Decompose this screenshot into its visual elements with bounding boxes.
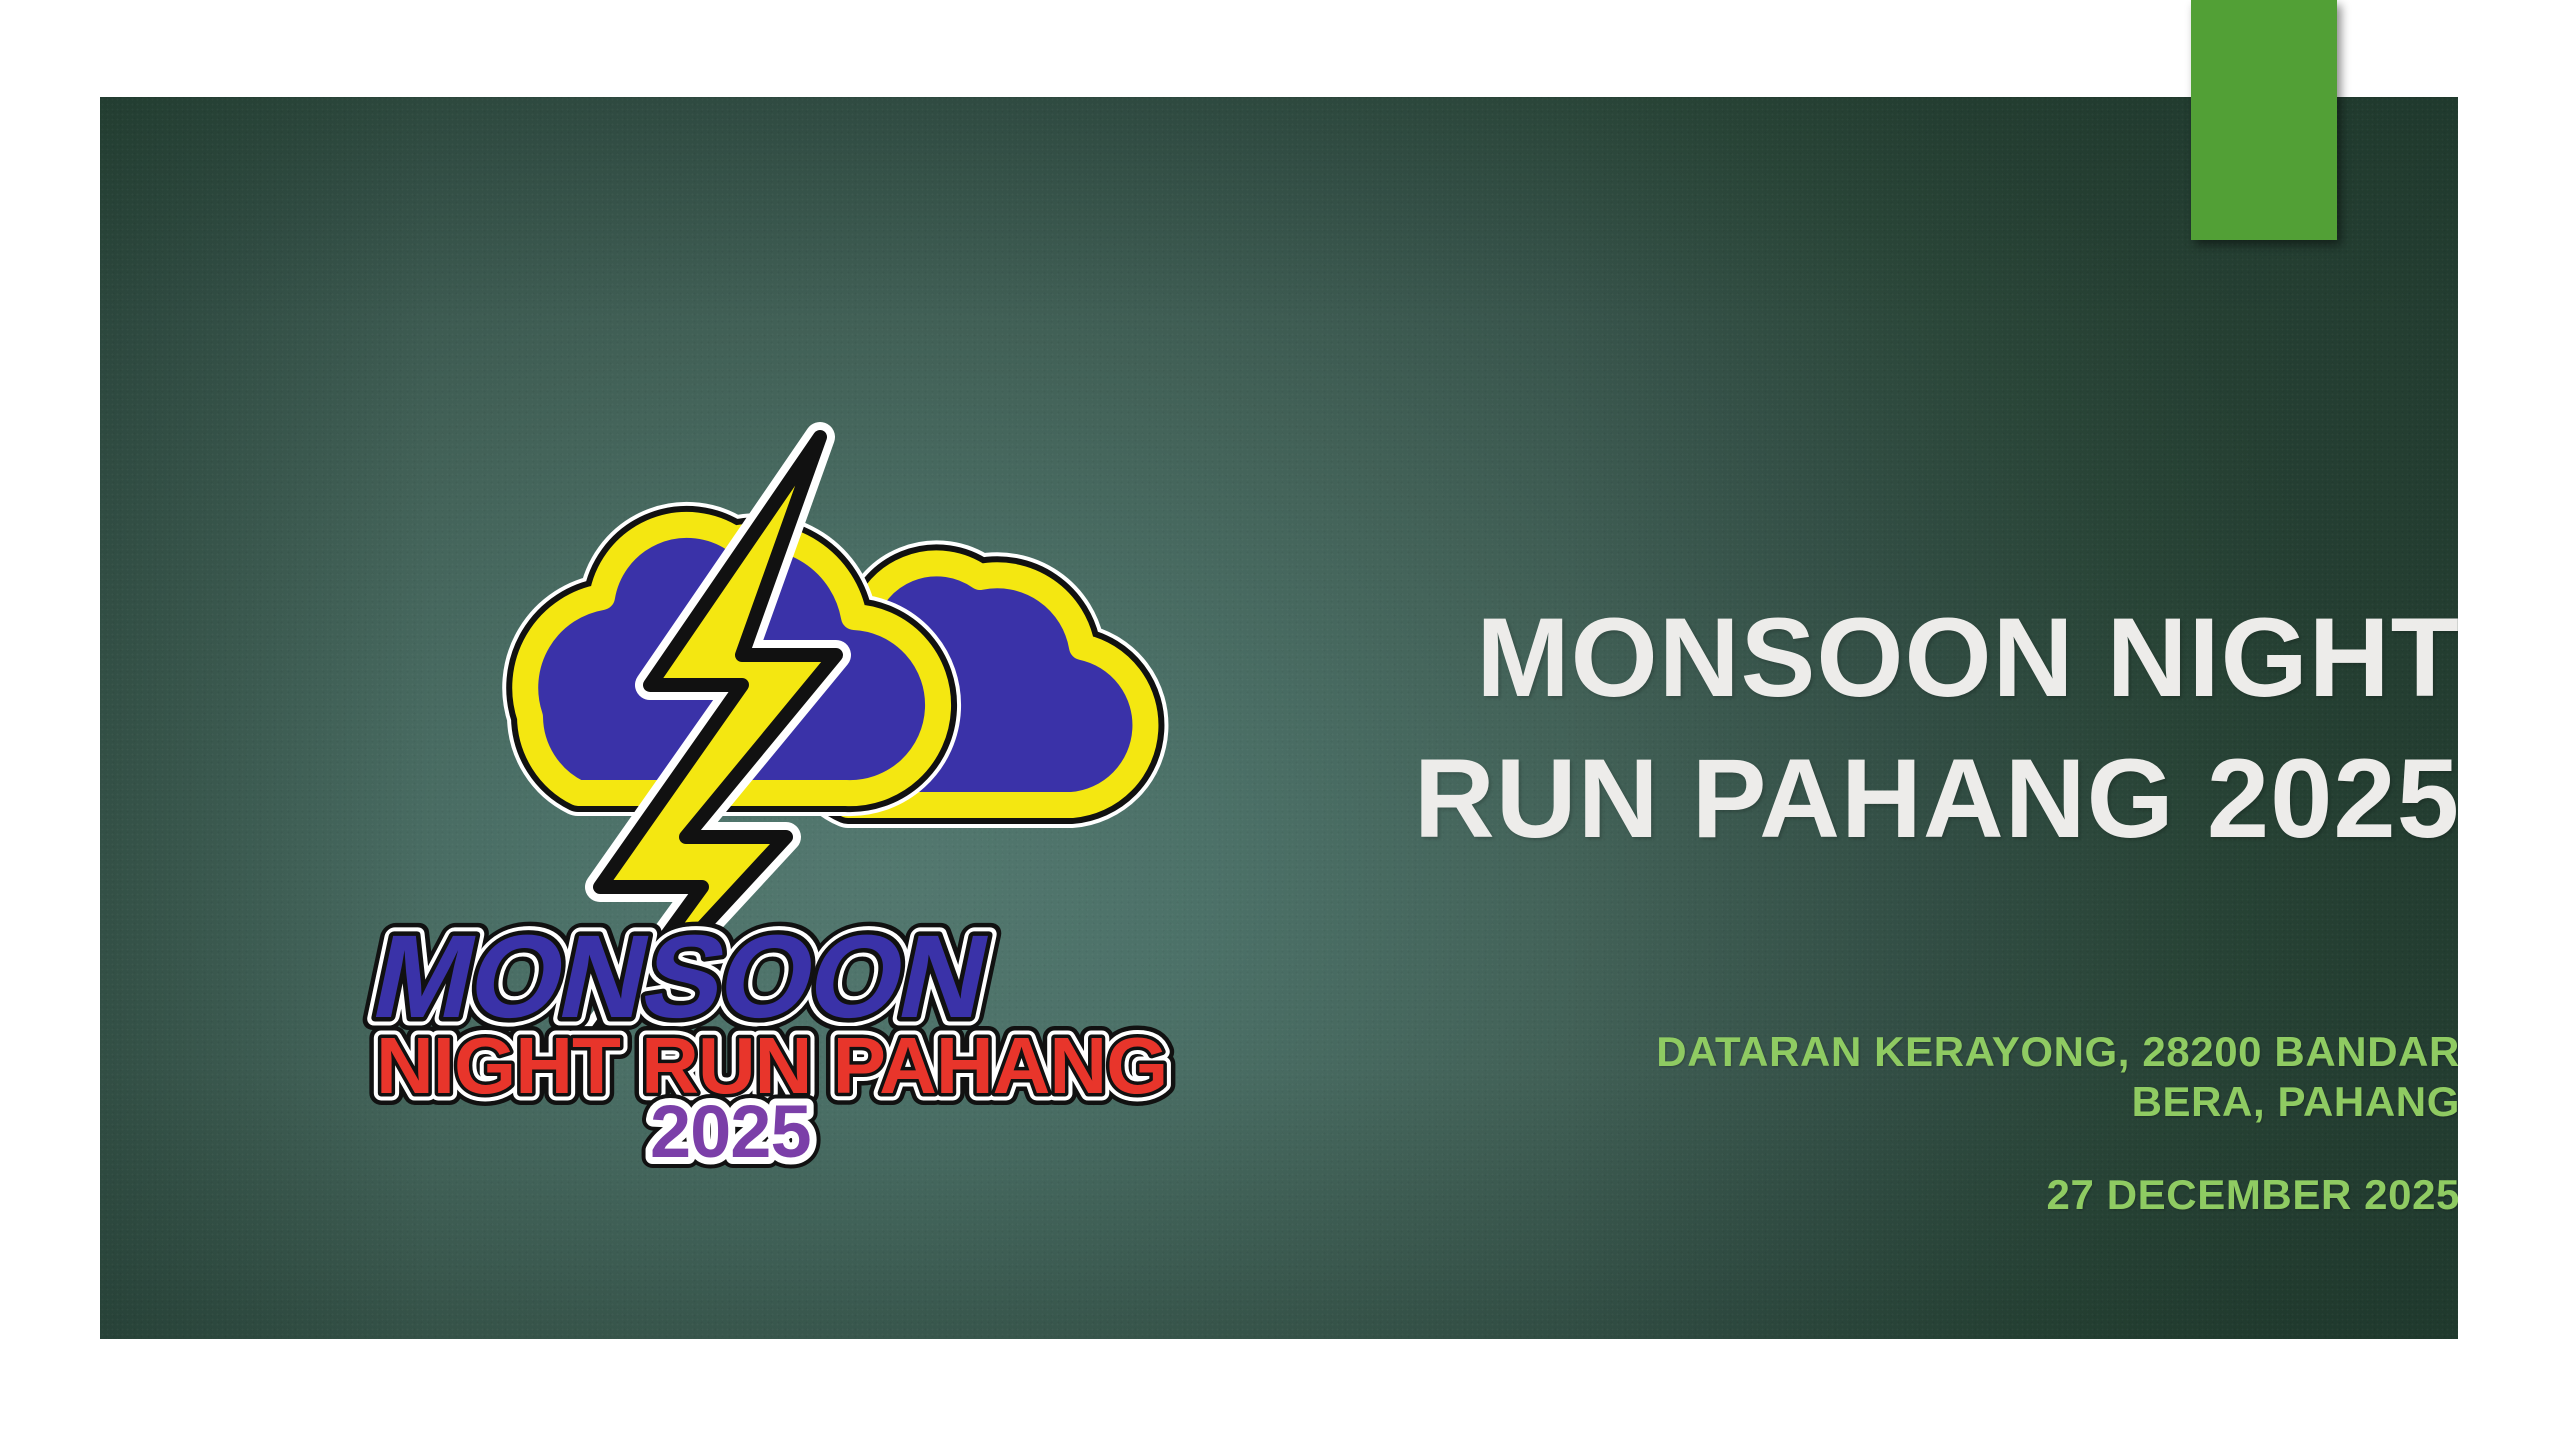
subtitle-venue-line-1: DATARAN KERAYONG, 28200 BANDAR [1300, 1027, 2458, 1077]
subtitle-venue-line-2: BERA, PAHANG [1300, 1077, 2458, 1127]
logo-wordmark-year: 2025 2025 2025 [650, 1090, 811, 1173]
presentation-canvas: MONSOON MONSOON MONSOON MONSOON NIGHT RU… [0, 0, 2560, 1440]
subtitle-placeholder[interactable]: DATARAN KERAYONG, 28200 BANDAR BERA, PAH… [1300, 1027, 2458, 1220]
accent-bar [2191, 0, 2337, 240]
wordmark-year-fill: 2025 [650, 1090, 811, 1173]
subtitle-date: 27 DECEMBER 2025 [1300, 1170, 2458, 1220]
title-placeholder[interactable]: MONSOON NIGHT RUN PAHANG 2025 [1160, 587, 2458, 869]
event-logo: MONSOON MONSOON MONSOON MONSOON NIGHT RU… [350, 417, 1160, 1147]
title-slide: MONSOON MONSOON MONSOON MONSOON NIGHT RU… [100, 97, 2458, 1339]
page-title: MONSOON NIGHT RUN PAHANG 2025 [1160, 587, 2458, 869]
